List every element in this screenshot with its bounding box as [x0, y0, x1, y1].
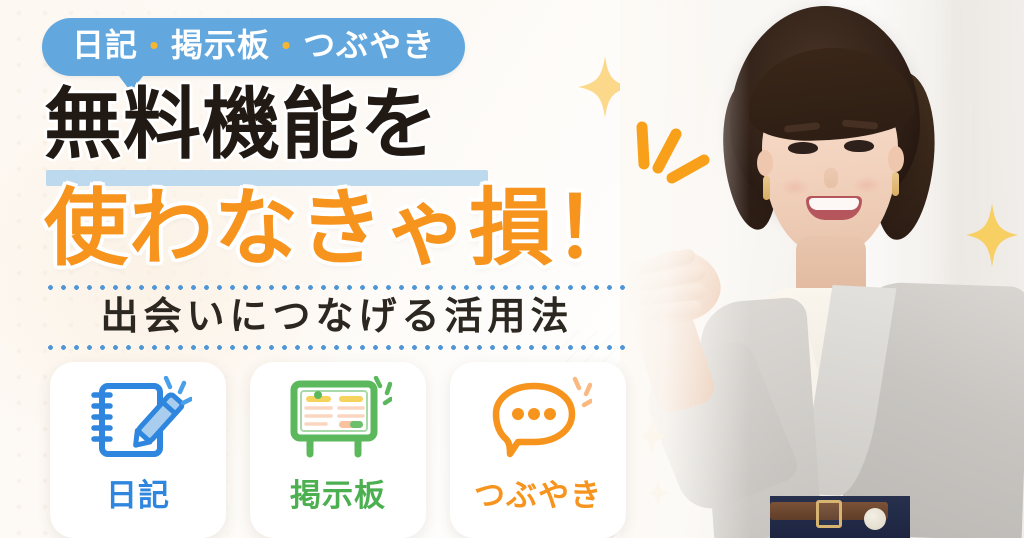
belt-buckle	[816, 500, 842, 528]
cheek-left	[780, 178, 810, 196]
dotted-rule-bottom	[44, 345, 630, 350]
ear-left	[757, 150, 773, 176]
feature-card-label-board: 掲示板	[290, 470, 386, 515]
bulletin-board-icon	[283, 376, 393, 464]
earring-right	[892, 172, 899, 196]
feature-card-board[interactable]: 掲示板	[250, 362, 426, 538]
notebook-pencil-icon	[83, 376, 193, 464]
banner-content: 日記・掲示板・つぶやき 無料機能を 使わなきゃ損！ 出会いにつなげる活用法	[0, 0, 680, 538]
headline-line1-wrapper: 無料機能を	[44, 82, 439, 166]
earring-left	[763, 176, 770, 200]
blazer-button	[864, 508, 886, 530]
headline-line2-wrapper: 使わなきゃ損！	[44, 183, 639, 274]
category-badge: 日記・掲示板・つぶやき	[42, 18, 465, 76]
badge-part-board: 掲示板	[171, 27, 270, 63]
badge-separator-2: ・	[270, 31, 303, 62]
feature-card-label-diary: 日記	[106, 470, 170, 515]
cheek-right	[852, 176, 882, 194]
subtitle: 出会いにつなげる活用法	[44, 292, 630, 343]
headline-line2: 使わなきゃ損！	[44, 183, 639, 274]
headline-line1: 無料機能を	[44, 82, 439, 166]
feature-card-list: 日記	[50, 362, 626, 538]
feature-card-tweet[interactable]: つぶやき	[450, 362, 626, 538]
nose	[824, 168, 838, 188]
promo-banner: 日記・掲示板・つぶやき 無料機能を 使わなきゃ損！ 出会いにつなげる活用法	[0, 0, 1024, 538]
eye-right	[844, 140, 874, 152]
teeth	[809, 198, 859, 210]
feature-card-diary[interactable]: 日記	[50, 362, 226, 538]
smiling-mouth	[806, 196, 862, 220]
presenter-photo	[620, 0, 1024, 538]
feature-card-label-tweet: つぶやき	[474, 470, 602, 515]
speech-bubble-dots-icon	[483, 376, 593, 464]
category-badge-pill: 日記・掲示板・つぶやき	[42, 18, 465, 76]
ear-right	[888, 146, 904, 172]
badge-part-diary: 日記	[72, 27, 138, 63]
dotted-rule-top	[44, 285, 630, 290]
eye-left	[788, 142, 818, 154]
badge-part-tweet: つぶやき	[303, 27, 435, 63]
badge-separator-1: ・	[138, 31, 171, 62]
